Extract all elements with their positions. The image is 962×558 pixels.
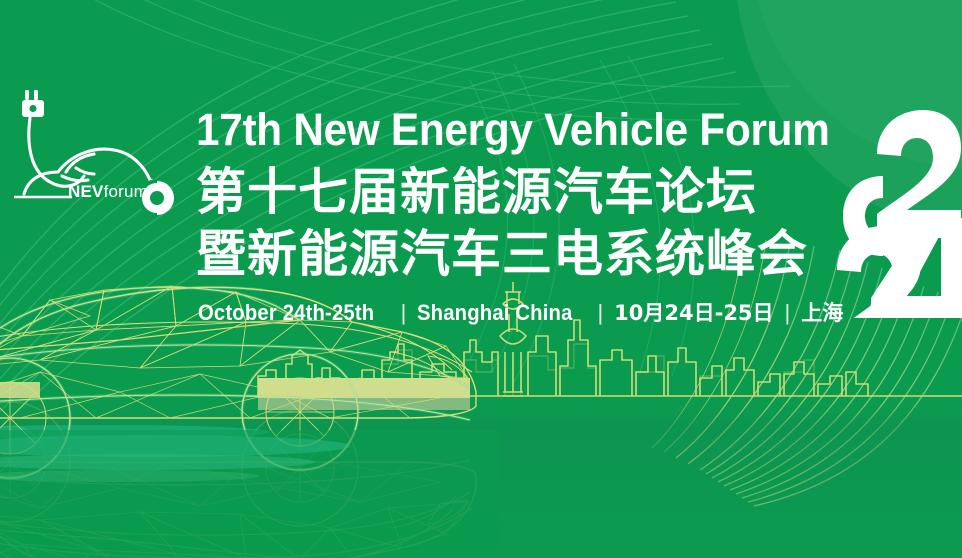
logo-wordmark-light: forum [104, 182, 148, 201]
city-english: Shanghai China [417, 300, 573, 326]
year-2024-mark [837, 98, 962, 318]
year-value-text: 2024 [0, 0, 1, 1]
title-chinese-main: 第十七届新能源汽车论坛 [196, 162, 836, 222]
date-english: October 24th-25th [198, 300, 374, 326]
dateline: October 24th-25th | Shanghai China | 10月… [198, 300, 843, 326]
logo-name-text: NEVforum [0, 0, 1, 1]
car-floor-glow [0, 425, 350, 482]
skyline-graphic-label: shanghai-skyline-with-oriental-pearl-tow… [0, 0, 1, 1]
logo-wordmark-bold: NEV [68, 182, 104, 201]
car-reflection [0, 402, 476, 558]
title-english: 17th New Energy Vehicle Forum [196, 104, 798, 156]
city-chinese: 上海 [801, 300, 843, 326]
conference-banner: NEVforum 17th New Energy Vehicle Forum 第… [0, 0, 962, 558]
dateline-separator-1: | [390, 300, 418, 326]
charging-plug-icon [22, 90, 44, 117]
dateline-separator-2: | [586, 300, 614, 326]
title-chinese-sub: 暨新能源汽车三电系统峰会 [196, 224, 836, 284]
title-block: 17th New Energy Vehicle Forum 第十七届新能源汽车论… [196, 104, 836, 284]
logo-wordmark: NEVforum [68, 183, 148, 200]
car-graphic-label: wireframe-electric-car [0, 0, 1, 1]
date-chinese: 10月24日-25日 [614, 300, 773, 326]
dateline-separator-3: | [774, 300, 802, 326]
